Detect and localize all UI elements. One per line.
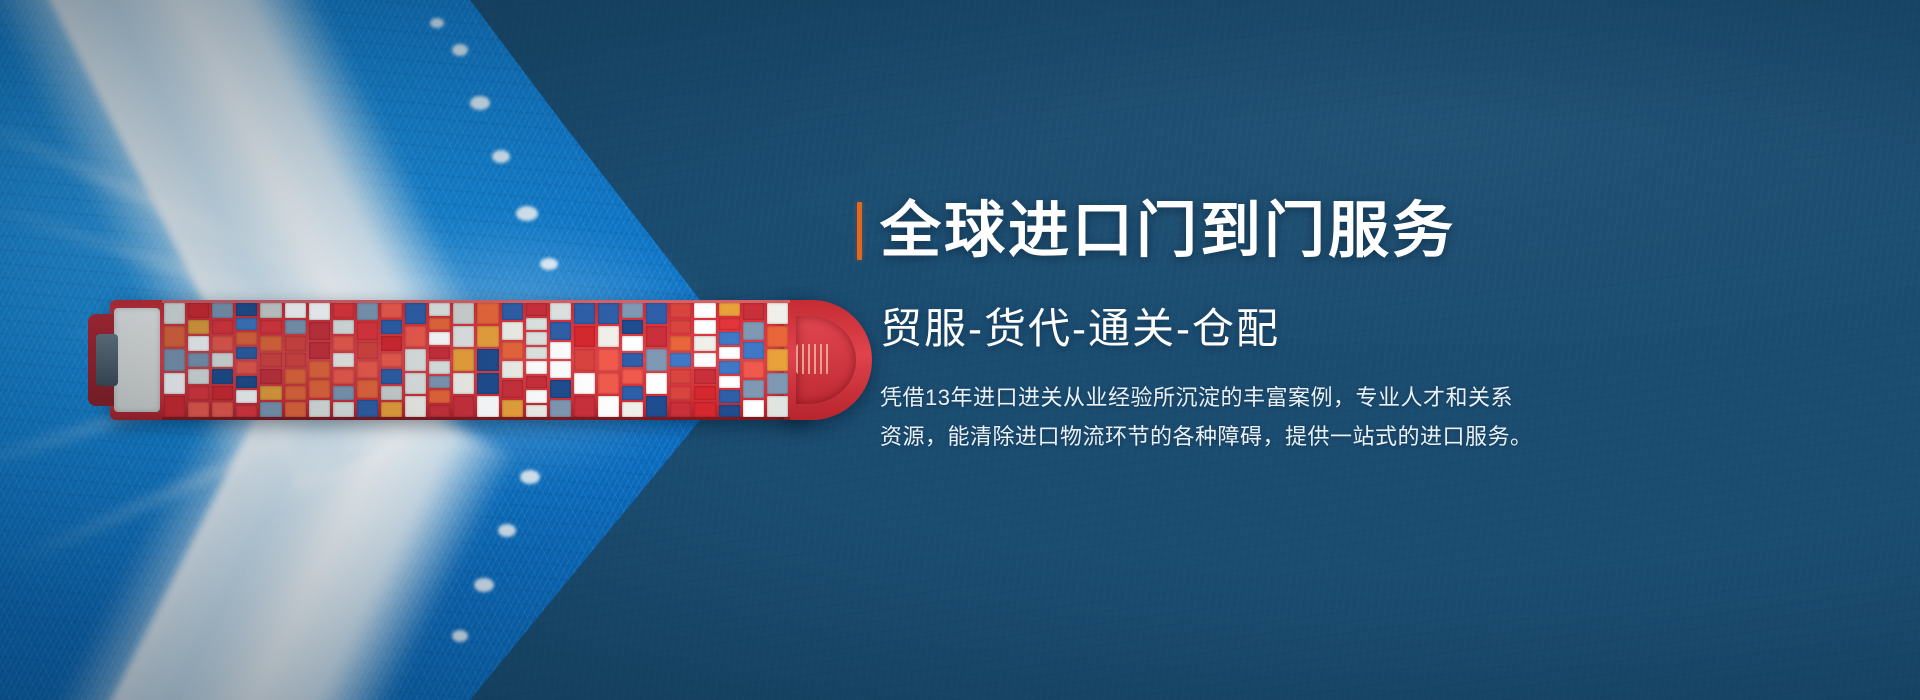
accent-bar	[857, 202, 862, 260]
description-line: 凭借13年进口进关从业经验所沉淀的丰富案例，专业人才和关系	[880, 379, 1592, 418]
hero-banner: 全球进口门到门服务 贸服-货代-通关-仓配 凭借13年进口进关从业经验所沉淀的丰…	[0, 0, 1920, 700]
headline-row: 全球进口门到门服务	[857, 200, 1677, 261]
banner-description: 凭借13年进口进关从业经验所沉淀的丰富案例，专业人才和关系资源，能清除进口物流环…	[880, 379, 1592, 456]
banner-copy: 全球进口门到门服务 贸服-货代-通关-仓配 凭借13年进口进关从业经验所沉淀的丰…	[857, 200, 1677, 456]
description-line: 资源，能清除进口物流环节的各种障碍，提供一站式的进口服务。	[880, 418, 1592, 457]
banner-headline: 全球进口门到门服务	[880, 200, 1456, 261]
banner-subheadline: 贸服-货代-通关-仓配	[880, 305, 1677, 353]
